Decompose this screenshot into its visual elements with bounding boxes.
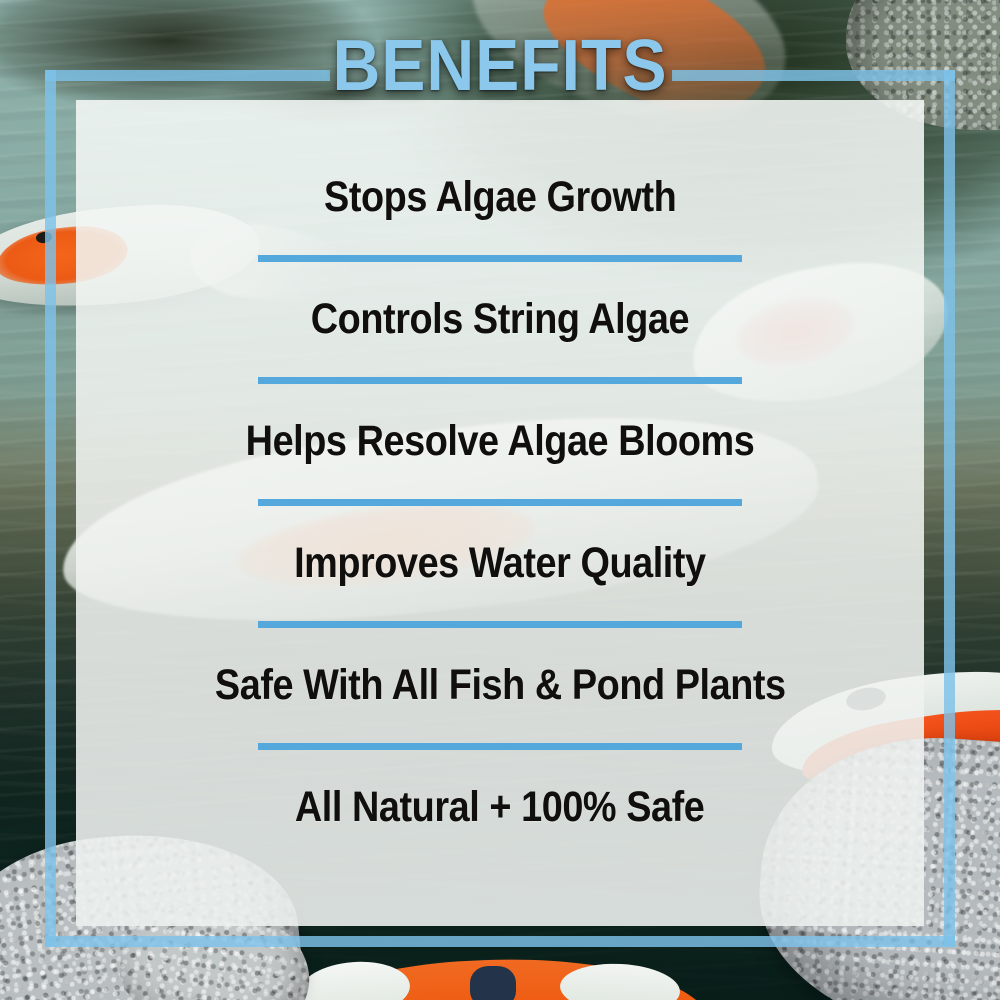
frame-border-right	[944, 70, 955, 947]
benefits-infographic: BENEFITS Stops Algae Growth Controls Str…	[0, 0, 1000, 1000]
benefit-divider	[258, 499, 742, 506]
koi-fish-bottom-dark-patch	[470, 966, 516, 1000]
benefit-label: Helps Resolve Algae Blooms	[246, 417, 755, 466]
benefit-label: Stops Algae Growth	[324, 173, 676, 222]
list-item: Safe With All Fish & Pond Plants	[76, 628, 924, 743]
benefit-divider	[258, 377, 742, 384]
benefits-list: Stops Algae Growth Controls String Algae…	[76, 140, 924, 900]
list-item: Stops Algae Growth	[76, 140, 924, 255]
benefit-label: All Natural + 100% Safe	[295, 783, 704, 832]
list-item: Improves Water Quality	[76, 506, 924, 621]
frame-border-bottom	[45, 936, 955, 947]
benefit-label: Improves Water Quality	[294, 539, 706, 588]
benefit-label: Controls String Algae	[311, 295, 689, 344]
benefit-divider	[258, 743, 742, 750]
list-item: Controls String Algae	[76, 262, 924, 377]
benefit-label: Safe With All Fish & Pond Plants	[215, 661, 786, 710]
benefit-divider	[258, 621, 742, 628]
page-title: BENEFITS	[40, 30, 960, 102]
list-item: All Natural + 100% Safe	[76, 750, 924, 865]
benefit-divider	[258, 255, 742, 262]
list-item: Helps Resolve Algae Blooms	[76, 384, 924, 499]
frame-border-left	[45, 70, 56, 947]
